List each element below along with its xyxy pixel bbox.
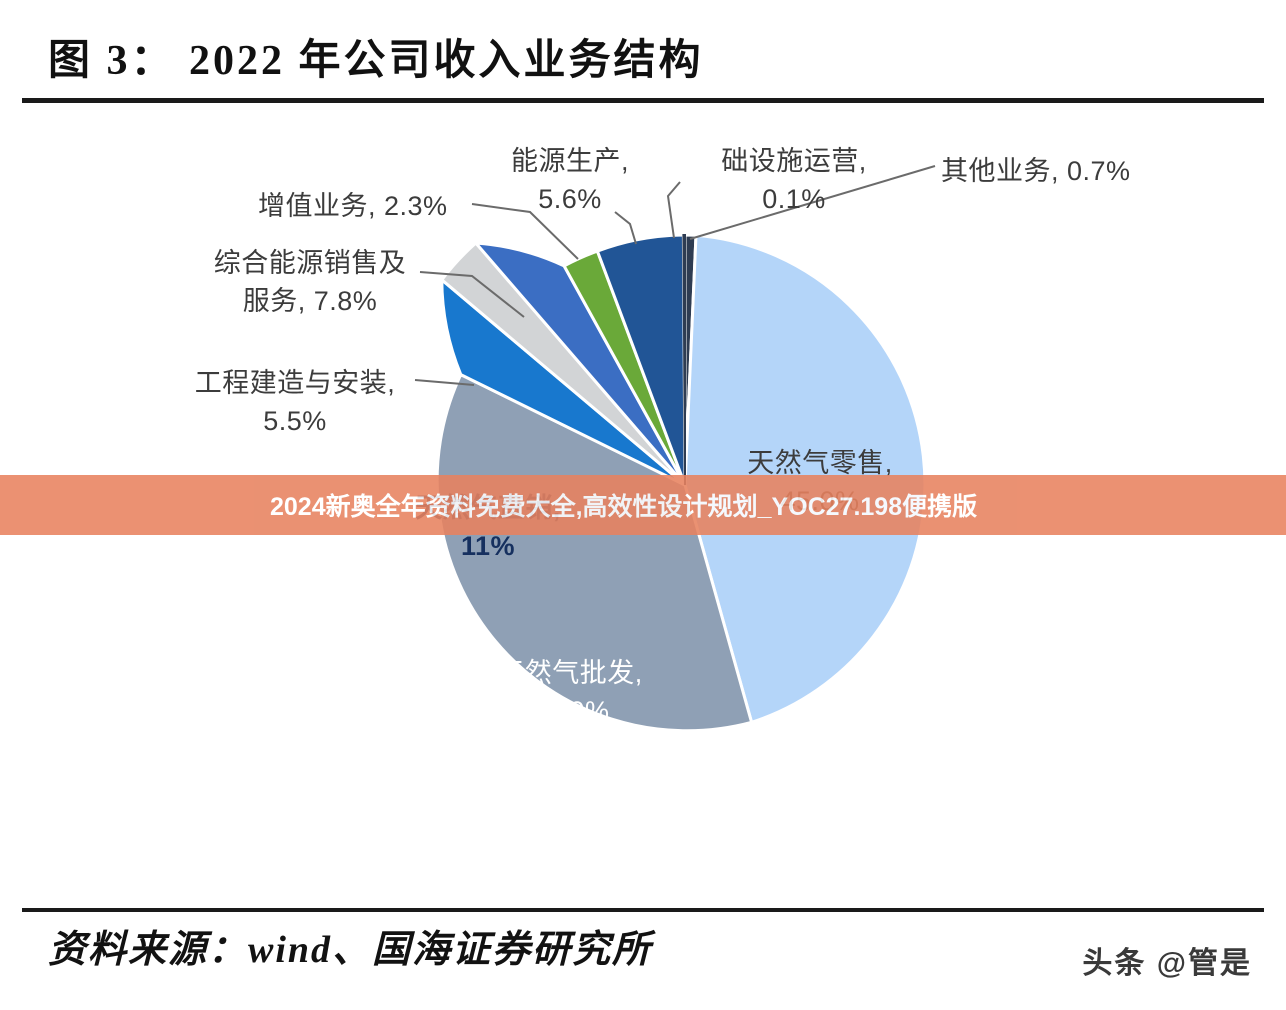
callout-text-zonghe-nengyuan-line2: 服务, 7.8% (190, 282, 430, 320)
site-watermark: 头条 @管是 (1082, 938, 1252, 982)
callout-label-nengyuan-shengchan: 能源生产, 5.6% (490, 142, 650, 219)
callout-label-zengzhi-yewu: 增值业务, 2.3% (258, 187, 448, 225)
inner-label-tianranqi-pifa: 天然气批发, 22.0% (455, 654, 685, 731)
callout-text-zengzhi-yewu: 增值业务, 2.3% (258, 187, 448, 225)
inner-text-tianranqi-pifa-line1: 天然气批发, (455, 654, 685, 692)
callout-text-nengyuan-shengchan-line2: 5.6% (490, 180, 650, 218)
callout-text-jichusheshi-line1: 础设施运营, (694, 142, 894, 180)
promo-banner-watermark: 2024新奥全年资料免费大全,高效性设计规划_YOC27.198便携版 (0, 475, 1286, 535)
callout-text-jichusheshi-line2: 0.1% (694, 180, 894, 218)
callout-text-qitayewu: 其他业务, 0.7% (941, 152, 1131, 190)
footer-divider (22, 908, 1264, 912)
callout-label-zonghe-nengyuan: 综合能源销售及 服务, 7.8% (190, 244, 430, 321)
page-title: 图 3： 2022 年公司收入业务结构 (48, 26, 704, 87)
callout-label-jichusheshi-yunying: 础设施运营, 0.1% (694, 142, 894, 219)
leader-line-jichusheshi (668, 182, 680, 238)
promo-banner-text: 2024新奥全年资料免费大全,高效性设计规划_YOC27.198便携版 (0, 487, 977, 523)
callout-text-gongcheng-jianzao-line2: 5.5% (170, 402, 420, 440)
inner-text-tianranqi-pifa-line2: 22.0% (455, 692, 685, 730)
callout-label-qitayewu: 其他业务, 0.7% (941, 152, 1131, 190)
callout-text-zonghe-nengyuan-line1: 综合能源销售及 (190, 244, 430, 282)
callout-text-gongcheng-jianzao-line1: 工程建造与安装, (170, 364, 420, 402)
figure-page: 图 3： 2022 年公司收入业务结构 (0, 0, 1286, 1010)
callout-text-nengyuan-shengchan-line1: 能源生产, (490, 142, 650, 180)
figure-header: 图 3： 2022 年公司收入业务结构 (0, 0, 1286, 104)
title-divider (22, 98, 1264, 103)
callout-label-gongcheng-jianzao: 工程建造与安装, 5.5% (170, 364, 420, 441)
source-note: 资料来源：wind、国海证券研究所 (48, 918, 652, 973)
